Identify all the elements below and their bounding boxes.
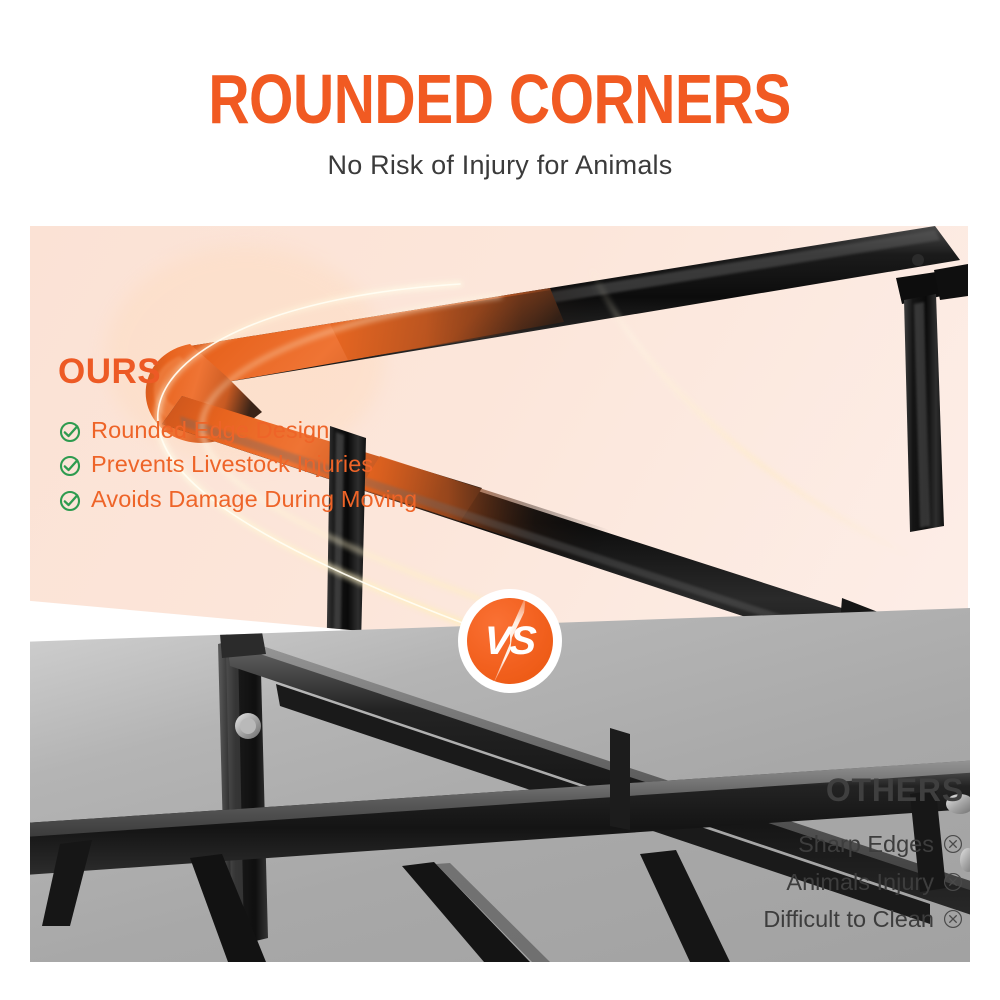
check-circle-icon (58, 420, 82, 444)
ours-feature-list: Rounded Edge Design Prevents Livestock I… (58, 414, 438, 515)
x-circle-icon (942, 871, 964, 893)
vs-label: VS (483, 621, 537, 661)
feature-label: Prevents Livestock Injuries (91, 448, 373, 480)
list-item: Sharp Edges (544, 829, 964, 860)
others-heading: OTHERS (544, 772, 964, 809)
x-circle-icon (942, 833, 964, 855)
ours-feature-block: OURS Rounded Edge Design (58, 352, 438, 517)
drawback-label: Difficult to Clean (763, 904, 934, 935)
list-item: Rounded Edge Design (58, 414, 438, 446)
list-item: Animals Injury (544, 867, 964, 898)
drawback-label: Sharp Edges (798, 829, 934, 860)
x-circle-icon (942, 908, 964, 930)
ours-heading: OURS (58, 352, 438, 392)
drawback-label: Animals Injury (786, 867, 934, 898)
others-drawback-block: OTHERS Sharp Edges Animals Injury (544, 772, 964, 942)
feature-label: Avoids Damage During Moving (91, 483, 417, 515)
list-item: Difficult to Clean (544, 904, 964, 935)
check-circle-icon (58, 489, 82, 513)
comparison-panels: OURS Rounded Edge Design (0, 0, 1000, 1000)
vs-badge-circle: VS (467, 598, 553, 684)
vs-badge: VS (458, 589, 562, 693)
feature-label: Rounded Edge Design (91, 414, 329, 446)
check-circle-icon (58, 454, 82, 478)
others-drawback-list: Sharp Edges Animals Injury (544, 829, 964, 935)
product-comparison-graphic: ROUNDED CORNERS No Risk of Injury for An… (0, 0, 1000, 1000)
list-item: Avoids Damage During Moving (58, 483, 438, 515)
list-item: Prevents Livestock Injuries (58, 448, 438, 480)
